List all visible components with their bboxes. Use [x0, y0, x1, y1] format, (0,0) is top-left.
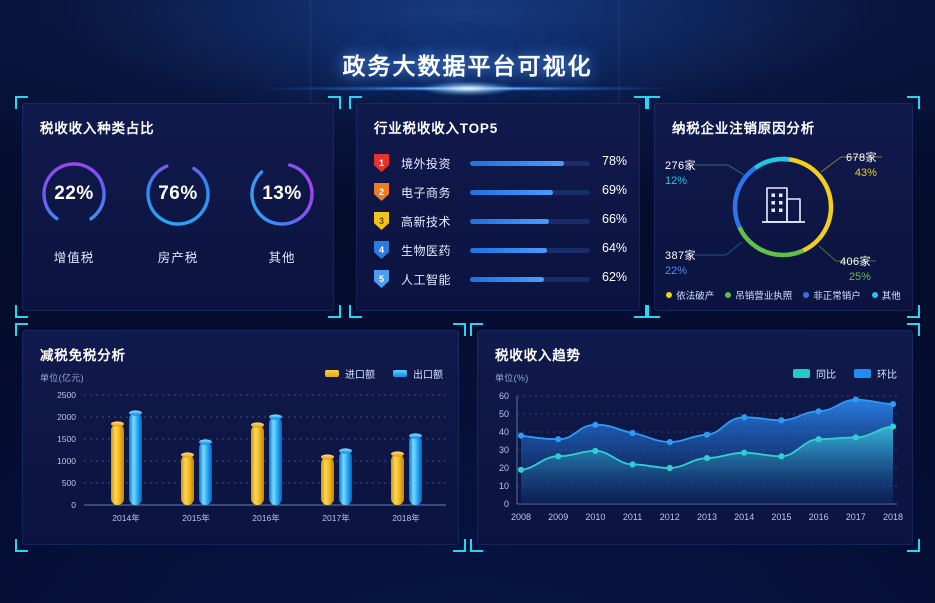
svg-text:2015: 2015 [771, 512, 791, 522]
svg-text:2018年: 2018年 [392, 513, 420, 523]
svg-text:2011: 2011 [623, 512, 642, 522]
legend-item-1[interactable]: 吊销营业执照 [725, 288, 792, 302]
svg-text:2500: 2500 [57, 390, 76, 400]
legend-label-1: 吊销营业执照 [735, 288, 792, 302]
donut-pct-1: 25% [840, 271, 871, 283]
corner-bracket-tr [907, 323, 920, 336]
svg-text:2014年: 2014年 [112, 513, 140, 523]
table-row[interactable]: 4 生物医药 64% [374, 240, 626, 262]
dashboard-header: 政务大数据平台可视化 [0, 0, 935, 100]
corner-bracket-br [907, 305, 920, 318]
rank-bar-fill-5 [470, 277, 544, 282]
table-row[interactable]: 2 电子商务 69% [374, 182, 626, 204]
corner-bracket-tr [453, 323, 466, 336]
svg-text:2009: 2009 [548, 512, 568, 522]
corner-bracket-br [907, 539, 920, 552]
svg-text:1500: 1500 [57, 434, 76, 444]
rank-name-1: 境外投资 [401, 155, 451, 172]
legend-item-yoy[interactable]: 同比 [793, 366, 836, 381]
rank-badge-1: 1 [374, 154, 389, 172]
bar-chart-unit: 单位(亿元) [40, 371, 84, 384]
corner-bracket-bl [349, 305, 362, 318]
rank-badge-4: 4 [374, 241, 389, 259]
area-chart-unit: 单位(%) [495, 371, 529, 384]
gauge-value-2: 13% [246, 158, 318, 230]
legend-item-import[interactable]: 进口额 [325, 366, 375, 381]
header-light-core [423, 82, 513, 95]
rank-percent-1: 78% [602, 154, 627, 168]
corner-bracket-bl [647, 305, 660, 318]
legend-swatch-export [393, 370, 407, 377]
legend-swatch-yoy [793, 369, 810, 378]
panel-cancel-reason: 纳税企业注销原因分析 [654, 103, 913, 311]
legend-label-export: 出口额 [413, 366, 443, 381]
rank-badge-3: 3 [374, 212, 389, 230]
svg-text:500: 500 [62, 478, 76, 488]
table-row[interactable]: 1 境外投资 78% [374, 153, 626, 175]
rank-badge-2: 2 [374, 183, 389, 201]
rank-bar-fill-2 [470, 190, 553, 195]
table-row[interactable]: 5 人工智能 62% [374, 269, 626, 291]
legend-item-2[interactable]: 非正常销户 [803, 288, 861, 302]
legend-item-export[interactable]: 出口额 [393, 366, 443, 381]
table-row[interactable]: 3 高新技术 66% [374, 211, 626, 233]
corner-bracket-bl [15, 305, 28, 318]
panel-title-tax-trend: 税收收入趋势 [495, 344, 581, 364]
svg-text:50: 50 [499, 409, 509, 419]
donut-pct-3: 12% [665, 175, 696, 187]
donut-pct-2: 22% [665, 265, 696, 277]
rank-name-3: 高新技术 [401, 213, 451, 230]
building-icon [762, 188, 805, 222]
corner-bracket-tl [15, 323, 28, 336]
donut-label-0: 678家 43% [846, 149, 877, 179]
svg-text:2016年: 2016年 [252, 513, 280, 523]
rank-percent-5: 62% [602, 270, 627, 284]
svg-text:2016: 2016 [809, 512, 829, 522]
donut-pct-0: 43% [846, 167, 877, 179]
gauge-group: 22% 增值税 76% [22, 158, 334, 266]
legend-label-yoy: 同比 [816, 366, 836, 381]
svg-text:1000: 1000 [57, 456, 76, 466]
gauge-ring-0: 22% [38, 158, 110, 230]
area-chart-legend: 同比 环比 [793, 366, 897, 381]
corner-bracket-bl [470, 539, 483, 552]
corner-bracket-br [453, 539, 466, 552]
panel-title-industry-top5: 行业税收收入TOP5 [374, 117, 498, 137]
gauge-label-2: 其他 [234, 247, 330, 266]
rank-bar-fill-3 [470, 219, 549, 224]
gauge-value-0: 22% [38, 158, 110, 230]
svg-text:0: 0 [504, 499, 509, 509]
legend-label-3: 其他 [882, 288, 901, 302]
corner-bracket-br [634, 305, 647, 318]
svg-text:2012: 2012 [660, 512, 680, 522]
legend-item-3[interactable]: 其他 [872, 288, 901, 302]
rank-bar-track-4 [470, 248, 590, 253]
svg-text:2015年: 2015年 [182, 513, 210, 523]
gauge-label-1: 房产税 [130, 247, 226, 266]
panel-tax-trend: 税收收入趋势 单位(%) 同比 环比 [477, 330, 913, 545]
gauge-item-1[interactable]: 76% 房产税 [130, 158, 226, 266]
rank-badge-5: 5 [374, 270, 389, 288]
panel-title-tax-relief: 减税免税分析 [40, 344, 126, 364]
svg-text:30: 30 [499, 445, 509, 455]
legend-swatch-import [325, 370, 339, 377]
donut-label-1: 406家 25% [840, 253, 871, 283]
donut-count-2: 387家 [665, 250, 696, 262]
legend-item-mom[interactable]: 环比 [854, 366, 897, 381]
rank-bar-fill-4 [470, 248, 547, 253]
svg-text:40: 40 [499, 427, 509, 437]
rank-bar-track-2 [470, 190, 590, 195]
gauge-ring-1: 76% [142, 158, 214, 230]
gauge-label-0: 增值税 [26, 247, 122, 266]
rank-percent-3: 66% [602, 212, 627, 226]
svg-text:2013: 2013 [697, 512, 717, 522]
legend-dot-3 [872, 292, 878, 298]
rank-name-2: 电子商务 [401, 184, 451, 201]
area-chart[interactable]: 60 50 40 30 20 10 0 [477, 386, 913, 538]
svg-text:2018: 2018 [883, 512, 903, 522]
svg-text:0: 0 [71, 500, 76, 510]
rank-percent-4: 64% [602, 241, 627, 255]
corner-bracket-br [328, 305, 341, 318]
rank-bar-fill-1 [470, 161, 564, 166]
svg-text:2017年: 2017年 [322, 513, 350, 523]
svg-text:2017: 2017 [846, 512, 866, 522]
legend-label-2: 非正常销户 [813, 288, 861, 302]
rank-bar-track-1 [470, 161, 590, 166]
legend-item-0[interactable]: 依法破产 [666, 288, 714, 302]
bar-chart[interactable]: 2500 2000 1500 1000 500 0 [22, 387, 459, 537]
legend-swatch-mom [854, 369, 871, 378]
bar-chart-legend: 进口额 出口额 [325, 366, 443, 381]
rank-name-5: 人工智能 [401, 271, 451, 288]
donut-label-2: 387家 22% [665, 247, 696, 277]
legend-label-mom: 环比 [877, 366, 897, 381]
rank-bar-track-3 [470, 219, 590, 224]
legend-label-import: 进口额 [345, 366, 375, 381]
panel-industry-top5: 行业税收收入TOP5 1 境外投资 78% 2 电子商务 69% 3 高新技术 … [356, 103, 640, 311]
rank-name-4: 生物医药 [401, 242, 451, 259]
page-title: 政务大数据平台可视化 [0, 47, 935, 81]
panel-title-tax-share: 税收收入种类占比 [40, 117, 154, 137]
donut-count-0: 678家 [846, 152, 877, 164]
donut-count-1: 406家 [840, 256, 871, 268]
legend-label-0: 依法破产 [676, 288, 714, 302]
gauge-item-2[interactable]: 13% 其他 [234, 158, 330, 266]
legend-dot-0 [666, 292, 672, 298]
gauge-value-1: 76% [142, 158, 214, 230]
legend-dot-1 [725, 292, 731, 298]
donut-label-3: 276家 12% [665, 157, 696, 187]
gauge-item-0[interactable]: 22% 增值税 [26, 158, 122, 266]
svg-text:2014: 2014 [734, 512, 754, 522]
svg-text:20: 20 [499, 463, 509, 473]
svg-text:2010: 2010 [585, 512, 605, 522]
svg-text:10: 10 [499, 481, 509, 491]
panel-tax-relief: 减税免税分析 单位(亿元) 进口额 出口额 [22, 330, 459, 545]
donut-legend: 依法破产 吊销营业执照 非正常销户 其他 [654, 288, 913, 302]
corner-bracket-bl [15, 539, 28, 552]
rank-percent-2: 69% [602, 183, 627, 197]
rank-bar-track-5 [470, 277, 590, 282]
svg-text:2008: 2008 [511, 512, 531, 522]
dashboard-root: 政务大数据平台可视化 税收收入种类占比 [0, 0, 935, 603]
panel-tax-share: 税收收入种类占比 22% 增值税 [22, 103, 334, 311]
gauge-ring-2: 13% [246, 158, 318, 230]
legend-dot-2 [803, 292, 809, 298]
svg-text:60: 60 [499, 391, 509, 401]
corner-bracket-tl [470, 323, 483, 336]
svg-text:2000: 2000 [57, 412, 76, 422]
donut-count-3: 276家 [665, 160, 696, 172]
